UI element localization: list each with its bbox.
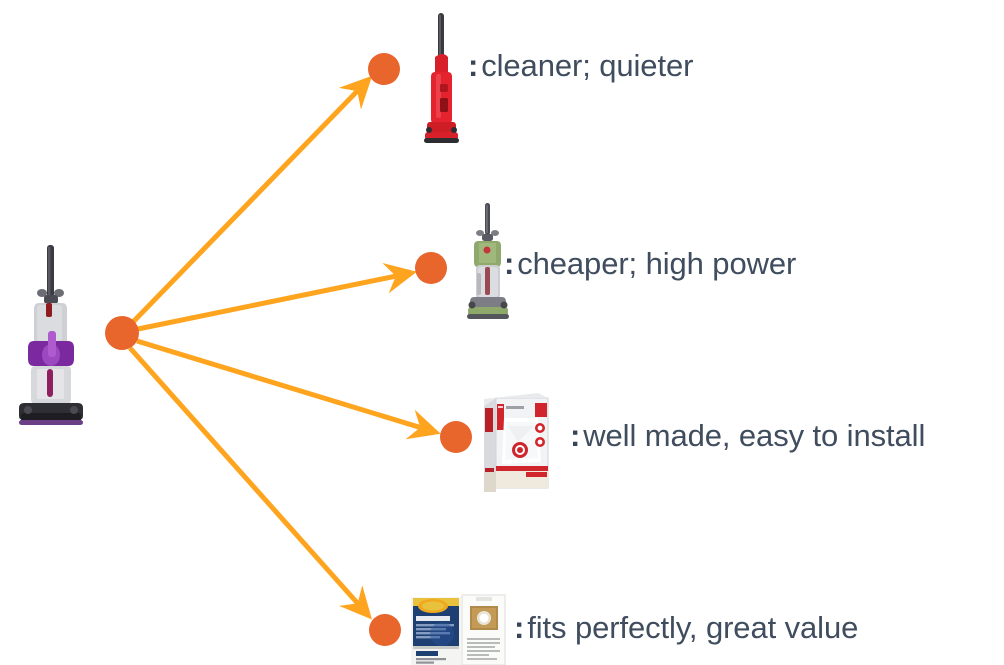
source-node[interactable] bbox=[105, 316, 139, 350]
edge-to-item-1 bbox=[133, 80, 368, 322]
item-1-colon: : bbox=[468, 48, 478, 83]
item-2-text: cheaper; high power bbox=[517, 246, 796, 281]
item-3-label: :well made, easy to install bbox=[570, 420, 925, 451]
edge-to-item-4 bbox=[130, 348, 368, 615]
edge-to-item-2 bbox=[138, 273, 411, 329]
item-4-colon: : bbox=[514, 610, 524, 645]
item-3-colon: : bbox=[570, 418, 580, 453]
item-2-colon: : bbox=[504, 246, 514, 281]
vacuum-bags-package-image bbox=[410, 594, 506, 665]
edge-layer bbox=[0, 0, 1004, 665]
target-node-item-4[interactable] bbox=[369, 614, 401, 646]
target-node-item-3[interactable] bbox=[440, 421, 472, 453]
target-node-item-1[interactable] bbox=[368, 53, 400, 85]
red-stick-vacuum-image bbox=[421, 12, 465, 148]
diagram-canvas: :cleaner; quieter :cheaper; high power bbox=[0, 0, 1004, 665]
item-1-label: :cleaner; quieter bbox=[468, 50, 693, 81]
item-4-text: fits perfectly, great value bbox=[527, 610, 858, 645]
target-node-item-2[interactable] bbox=[415, 252, 447, 284]
item-3-text: well made, easy to install bbox=[583, 418, 925, 453]
item-1-text: cleaner; quieter bbox=[481, 48, 693, 83]
source-vacuum-image bbox=[12, 243, 90, 429]
vacuum-bag-box-image bbox=[482, 392, 554, 494]
item-2-label: :cheaper; high power bbox=[504, 248, 796, 279]
edge-to-item-3 bbox=[137, 341, 435, 432]
item-4-label: :fits perfectly, great value bbox=[514, 612, 858, 643]
